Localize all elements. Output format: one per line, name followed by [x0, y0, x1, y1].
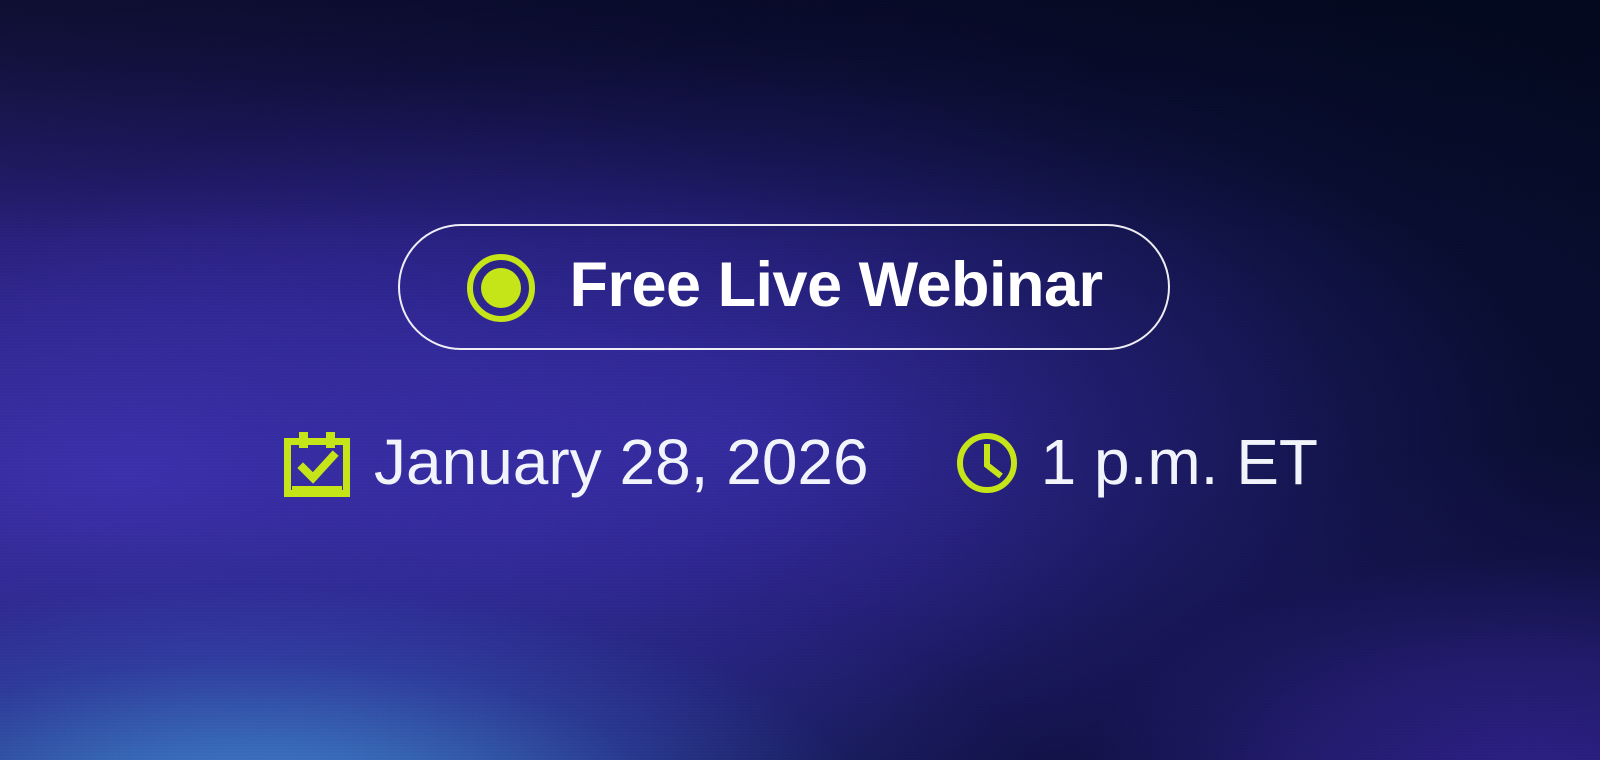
free-live-webinar-badge[interactable]: Free Live Webinar — [398, 224, 1170, 350]
event-time-text: 1 p.m. ET — [1041, 430, 1318, 494]
clock-icon — [955, 431, 1019, 495]
radio-filled-icon — [465, 252, 537, 324]
event-date-text: January 28, 2026 — [374, 430, 869, 494]
webinar-promo-banner: Free Live Webinar January 28, 2026 — [0, 0, 1600, 760]
event-date: January 28, 2026 — [282, 426, 869, 498]
calendar-check-icon — [282, 428, 352, 498]
badge-label: Free Live Webinar — [569, 254, 1102, 317]
event-details-row: January 28, 2026 1 p.m. ET — [0, 426, 1600, 498]
banner-content: Free Live Webinar January 28, 2026 — [0, 0, 1600, 760]
event-time: 1 p.m. ET — [955, 430, 1318, 495]
